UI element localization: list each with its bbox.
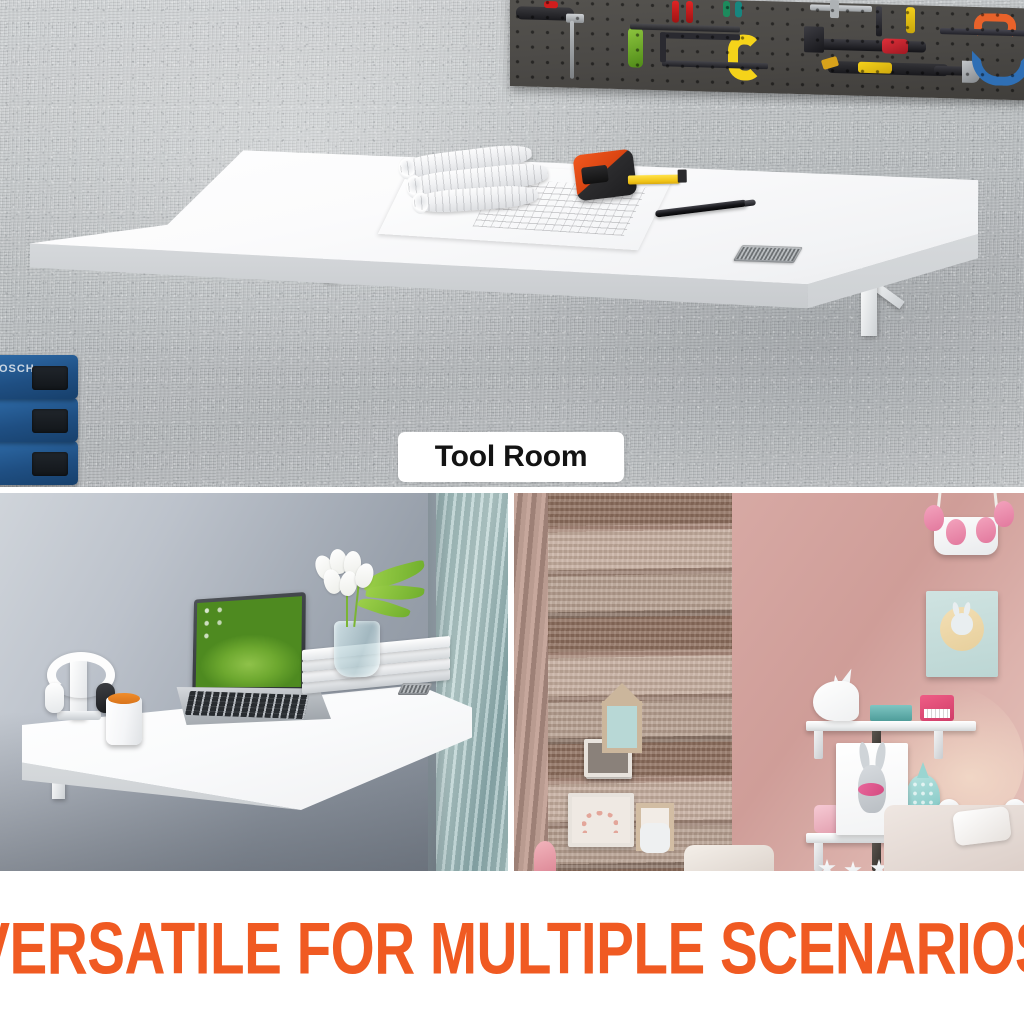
- tool-case-middle: [0, 398, 78, 442]
- label-tool-room: Tool Room: [398, 432, 624, 482]
- laptop-screen: [196, 596, 302, 687]
- children-room-curtain: [514, 493, 548, 871]
- screwdriver-green-icon: [723, 1, 730, 17]
- handsaw-handle-icon: [974, 13, 1016, 40]
- tape-measure-window: [581, 165, 609, 185]
- panel-children-room: Children's Room: [514, 493, 1024, 871]
- toy-piano-keys: [924, 709, 950, 718]
- pry-bar-icon: [934, 66, 980, 76]
- cable-grommet: [733, 245, 803, 263]
- rabbit-bow-icon: [858, 783, 884, 796]
- bunny-lamp-icon: [640, 823, 670, 853]
- laptop-keyboard: [185, 691, 309, 719]
- pry-bar-claw-icon: [962, 61, 980, 84]
- tool-case-top: BOSCH: [0, 355, 78, 399]
- tool-case-brand-text: BOSCH: [0, 363, 35, 375]
- swing-pompom: [946, 519, 966, 545]
- clamp-handle-icon: [628, 27, 643, 67]
- bunny-face-icon: [951, 613, 973, 635]
- hacksaw-handle-icon: [728, 34, 762, 81]
- hacksaw-frame-icon: [660, 32, 666, 62]
- product-infographic: BOSCH Tool Room: [0, 0, 1024, 1024]
- handsaw-blade-icon: [940, 28, 1024, 36]
- hammer-grip-icon: [882, 38, 908, 54]
- swing-pompom: [994, 501, 1014, 527]
- drill-trigger-icon: [544, 1, 558, 8]
- cordless-drill-icon: [516, 6, 574, 21]
- tape-measure-hook: [678, 170, 687, 183]
- shelf-upper-bracket-left: [814, 731, 823, 759]
- tool-case-bottom: [0, 441, 78, 485]
- laptop-lid: [192, 592, 306, 691]
- tool-case-stack: BOSCH: [0, 355, 78, 485]
- moon-bunny-artwork: [926, 591, 998, 677]
- drill-chuck-icon: [566, 14, 584, 24]
- headline-band: VERSATILE FOR MULTIPLE SCENARIOS: [0, 871, 1024, 1024]
- clamp-bar-icon: [630, 23, 740, 32]
- file-tool-icon: [876, 6, 882, 36]
- house-shelf-roof-icon: [600, 683, 644, 705]
- tape-measure: [572, 149, 637, 202]
- wrench-head-icon: [830, 0, 839, 18]
- pegboard: [510, 0, 1024, 101]
- panel-bedroom: Bedroom: [0, 493, 508, 871]
- hacksaw-blade-icon: [662, 60, 768, 69]
- unicorn-head-decor: [810, 669, 864, 721]
- shelf-books-teal: [870, 705, 912, 721]
- swing-pompom: [924, 505, 944, 531]
- hacksaw-frame-top-icon: [660, 32, 740, 40]
- headphone-stand-base: [57, 711, 101, 720]
- pliers-jaw-icon: [821, 56, 839, 70]
- screwdriver-red-1-icon: [672, 1, 679, 23]
- cable-grommet: [397, 683, 432, 695]
- hammer-head-icon: [804, 26, 824, 53]
- shelf-upper: [806, 721, 976, 731]
- headline-text: VERSATILE FOR MULTIPLE SCENARIOS: [0, 905, 1024, 991]
- saw-blue-icon: [972, 51, 1024, 87]
- house-shelf-teal: [602, 701, 642, 753]
- pliers-grip-yellow-icon: [858, 62, 892, 74]
- glass-vase: [334, 621, 380, 677]
- hammer-handle-icon: [810, 38, 926, 52]
- bed-blanket-left: [684, 845, 774, 871]
- headphone-earcup-left: [45, 683, 64, 713]
- shelf-box-heart-decor: [582, 811, 618, 833]
- coffee-mug: [106, 697, 142, 745]
- hanging-swing: [920, 493, 1016, 559]
- bed-corner: [884, 805, 1024, 871]
- screwdriver-teal-icon: [735, 1, 742, 17]
- swing-pompom: [976, 517, 996, 543]
- chisel-yellow-icon: [906, 7, 915, 33]
- tape-measure-blade: [628, 175, 680, 185]
- panel-tool-room: BOSCH Tool Room: [0, 0, 1024, 487]
- shelf-upper-bracket-right: [934, 731, 943, 759]
- wrench-icon: [810, 4, 872, 12]
- bunny-ear-toy: [534, 841, 556, 871]
- calla-lily-arrangement: [300, 549, 430, 684]
- drill-bit-icon: [570, 21, 574, 79]
- screwdriver-red-2-icon: [686, 1, 693, 23]
- unicorn-head-icon: [813, 681, 859, 721]
- bed-pillow: [952, 806, 1012, 847]
- pliers-icon: [828, 61, 948, 76]
